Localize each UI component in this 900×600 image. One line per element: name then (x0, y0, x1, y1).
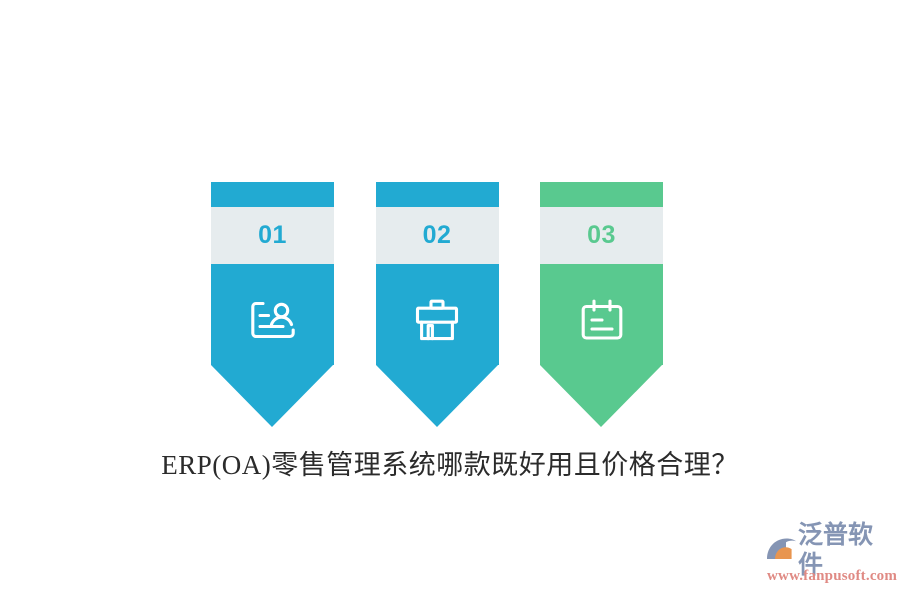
ribbon-number-band-01: 01 (211, 207, 334, 264)
ribbon-banner-02[interactable]: 02 (376, 182, 499, 428)
page-title: ERP(OA)零售管理系统哪款既好用且价格合理？ (0, 443, 900, 482)
ribbon-banner-group: 01 02 (211, 182, 663, 428)
ribbon-tail-01 (211, 365, 333, 427)
ribbon-banner-03[interactable]: 03 (540, 182, 663, 428)
ribbon-number-label-01: 01 (258, 223, 287, 248)
ribbon-tail-02 (376, 365, 498, 427)
ribbon-number-band-03: 03 (540, 207, 663, 264)
ribbon-number-label-03: 03 (587, 223, 616, 248)
storefront-shop-icon (376, 285, 499, 355)
logo-url-text: www.fanpusoft.com (767, 567, 895, 585)
ribbon-banner-01[interactable]: 01 (211, 182, 334, 428)
ribbon-number-band-02: 02 (376, 207, 499, 264)
notepad-list-icon (540, 285, 663, 355)
screenshot-canvas: 01 02 (0, 0, 900, 600)
ribbon-tail-03 (540, 365, 662, 427)
id-card-contact-icon (211, 285, 334, 355)
fanpu-logo-mark-icon (765, 535, 797, 565)
logo-brand-row: 泛普软件 (765, 533, 895, 566)
ribbon-number-label-02: 02 (423, 223, 452, 248)
watermark-logo: 泛普软件 www.fanpusoft.com (765, 533, 895, 589)
